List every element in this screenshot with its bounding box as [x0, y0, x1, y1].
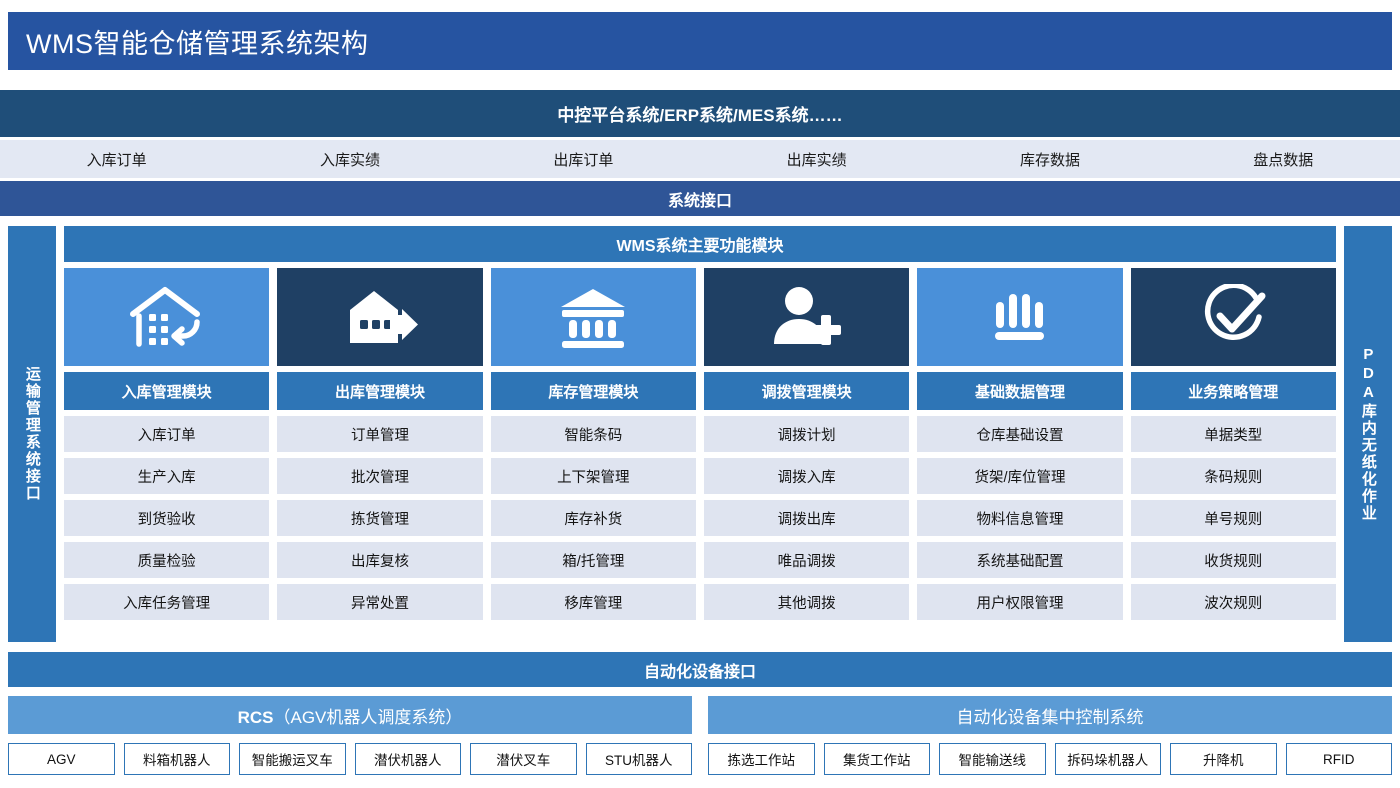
module-item[interactable]: 仓库基础设置 [917, 416, 1122, 452]
equipment-tag[interactable]: 集货工作站 [824, 743, 931, 775]
module-header-label: 基础数据管理 [975, 381, 1065, 402]
warehouse-outbound-icon [277, 268, 482, 366]
equipment-tag[interactable]: 料箱机器人 [124, 743, 231, 775]
equipment-tag-list: AGV料箱机器人智能搬运叉车潜伏机器人潜伏叉车STU机器人 [8, 743, 692, 775]
module-header[interactable]: 库存管理模块 [491, 372, 696, 410]
sidebar-pda-paperless-operation: PDA库内无纸化作业 [1344, 226, 1392, 642]
module-header[interactable]: 基础数据管理 [917, 372, 1122, 410]
module-item[interactable]: 出库复核 [277, 542, 482, 578]
module-item[interactable]: 波次规则 [1131, 584, 1336, 620]
module-item[interactable]: 质量检验 [64, 542, 269, 578]
bottom-system-title-rest: （AGV机器人调度系统） [274, 708, 463, 727]
module-item[interactable]: 生产入库 [64, 458, 269, 494]
module-item[interactable]: 用户权限管理 [917, 584, 1122, 620]
module-column-6: 业务策略管理单据类型条码规则单号规则收货规则波次规则 [1131, 268, 1336, 620]
module-header[interactable]: 调拨管理模块 [704, 372, 909, 410]
module-item[interactable]: 到货验收 [64, 500, 269, 536]
module-item[interactable]: 调拨计划 [704, 416, 909, 452]
module-item[interactable]: 调拨入库 [704, 458, 909, 494]
equipment-tag[interactable]: RFID [1286, 743, 1393, 775]
automation-interface-label: 自动化设备接口 [644, 658, 756, 682]
warehouse-inbound-icon [64, 268, 269, 366]
module-item[interactable]: 箱/托管理 [491, 542, 696, 578]
module-column-2: 出库管理模块订单管理批次管理拣货管理出库复核异常处置 [277, 268, 482, 620]
module-header[interactable]: 入库管理模块 [64, 372, 269, 410]
check-circle-icon [1131, 268, 1336, 366]
module-item[interactable]: 智能条码 [491, 416, 696, 452]
system-interface-label: 系统接口 [668, 187, 732, 211]
modules-title: WMS系统主要功能模块 [616, 232, 783, 256]
module-item[interactable]: 收货规则 [1131, 542, 1336, 578]
bottom-system-title: RCS（AGV机器人调度系统） [238, 703, 463, 728]
sidebar-transport-management-interface: 运输管理系统接口 [8, 226, 56, 642]
data-exchange-row: 入库订单入库实绩出库订单出库实绩库存数据盘点数据 [0, 140, 1400, 178]
bottom-system-title-bar: 自动化设备集中控制系统 [708, 696, 1392, 734]
module-item[interactable]: 货架/库位管理 [917, 458, 1122, 494]
module-item[interactable]: 单号规则 [1131, 500, 1336, 536]
module-header-label: 业务策略管理 [1188, 381, 1278, 402]
module-item[interactable]: 批次管理 [277, 458, 482, 494]
system-interface-band: 系统接口 [0, 181, 1400, 216]
data-exchange-item: 入库实绩 [233, 149, 466, 170]
module-header-label: 出库管理模块 [335, 381, 425, 402]
equipment-tag[interactable]: 拆码垛机器人 [1055, 743, 1162, 775]
user-add-icon [704, 268, 909, 366]
bottom-system-title-bold: RCS [238, 708, 274, 727]
modules-section: 运输管理系统接口 PDA库内无纸化作业 WMS系统主要功能模块 入库管理模块入库… [0, 222, 1400, 646]
module-item[interactable]: 条码规则 [1131, 458, 1336, 494]
equipment-tag[interactable]: 潜伏叉车 [470, 743, 577, 775]
external-systems-band: 中控平台系统/ERP系统/MES系统…… [0, 90, 1400, 137]
external-systems-label: 中控平台系统/ERP系统/MES系统…… [557, 101, 842, 126]
module-header-label: 库存管理模块 [548, 381, 638, 402]
module-item[interactable]: 单据类型 [1131, 416, 1336, 452]
wms-architecture-diagram: WMS智能仓储管理系统架构 中控平台系统/ERP系统/MES系统…… 入库订单入… [0, 0, 1400, 788]
bottom-systems-section: RCS（AGV机器人调度系统）AGV料箱机器人智能搬运叉车潜伏机器人潜伏叉车ST… [8, 696, 1392, 778]
module-item[interactable]: 拣货管理 [277, 500, 482, 536]
bar-chart-icon [917, 268, 1122, 366]
bottom-systems-row: RCS（AGV机器人调度系统）AGV料箱机器人智能搬运叉车潜伏机器人潜伏叉车ST… [8, 696, 1392, 775]
module-item[interactable]: 物料信息管理 [917, 500, 1122, 536]
bottom-system-title: 自动化设备集中控制系统 [957, 703, 1144, 728]
equipment-tag[interactable]: 智能输送线 [939, 743, 1046, 775]
bank-columns-icon [491, 268, 696, 366]
equipment-tag[interactable]: 智能搬运叉车 [239, 743, 346, 775]
module-item[interactable]: 唯品调拨 [704, 542, 909, 578]
equipment-tag[interactable]: 潜伏机器人 [355, 743, 462, 775]
module-header[interactable]: 出库管理模块 [277, 372, 482, 410]
module-item[interactable]: 系统基础配置 [917, 542, 1122, 578]
data-exchange-item: 出库实绩 [700, 149, 933, 170]
equipment-tag[interactable]: 升降机 [1170, 743, 1277, 775]
data-exchange-item: 出库订单 [467, 149, 700, 170]
equipment-tag[interactable]: 拣选工作站 [708, 743, 815, 775]
modules-columns: 入库管理模块入库订单生产入库到货验收质量检验入库任务管理 出库管理模块订单管理批… [64, 268, 1336, 620]
module-item[interactable]: 异常处置 [277, 584, 482, 620]
module-header[interactable]: 业务策略管理 [1131, 372, 1336, 410]
module-item[interactable]: 入库订单 [64, 416, 269, 452]
page-title-bar: WMS智能仓储管理系统架构 [8, 12, 1392, 70]
sidebar-left-label: 运输管理系统接口 [22, 366, 42, 502]
module-column-1: 入库管理模块入库订单生产入库到货验收质量检验入库任务管理 [64, 268, 269, 620]
equipment-tag[interactable]: STU机器人 [586, 743, 693, 775]
data-exchange-item: 入库订单 [0, 149, 233, 170]
module-column-4: 调拨管理模块调拨计划调拨入库调拨出库唯品调拨其他调拨 [704, 268, 909, 620]
data-exchange-item: 盘点数据 [1167, 149, 1400, 170]
page-title: WMS智能仓储管理系统架构 [8, 22, 368, 61]
equipment-tag[interactable]: AGV [8, 743, 115, 775]
bottom-system-title-bar: RCS（AGV机器人调度系统） [8, 696, 692, 734]
module-item[interactable]: 其他调拨 [704, 584, 909, 620]
bottom-system-1: RCS（AGV机器人调度系统）AGV料箱机器人智能搬运叉车潜伏机器人潜伏叉车ST… [8, 696, 692, 775]
equipment-tag-list: 拣选工作站集货工作站智能输送线拆码垛机器人升降机RFID [708, 743, 1392, 775]
modules-title-bar: WMS系统主要功能模块 [64, 226, 1336, 262]
sidebar-right-label: PDA库内无纸化作业 [1358, 346, 1378, 522]
data-exchange-item: 库存数据 [933, 149, 1166, 170]
module-item[interactable]: 入库任务管理 [64, 584, 269, 620]
automation-interface-band: 自动化设备接口 [8, 652, 1392, 687]
module-header-label: 入库管理模块 [122, 381, 212, 402]
module-column-3: 库存管理模块智能条码上下架管理库存补货箱/托管理移库管理 [491, 268, 696, 620]
module-item[interactable]: 移库管理 [491, 584, 696, 620]
module-item[interactable]: 上下架管理 [491, 458, 696, 494]
bottom-system-2: 自动化设备集中控制系统拣选工作站集货工作站智能输送线拆码垛机器人升降机RFID [708, 696, 1392, 775]
module-item[interactable]: 调拨出库 [704, 500, 909, 536]
module-item[interactable]: 库存补货 [491, 500, 696, 536]
module-item[interactable]: 订单管理 [277, 416, 482, 452]
module-column-5: 基础数据管理仓库基础设置货架/库位管理物料信息管理系统基础配置用户权限管理 [917, 268, 1122, 620]
modules-box: WMS系统主要功能模块 入库管理模块入库订单生产入库到货验收质量检验入库任务管理 [64, 226, 1336, 642]
module-header-label: 调拨管理模块 [762, 381, 852, 402]
